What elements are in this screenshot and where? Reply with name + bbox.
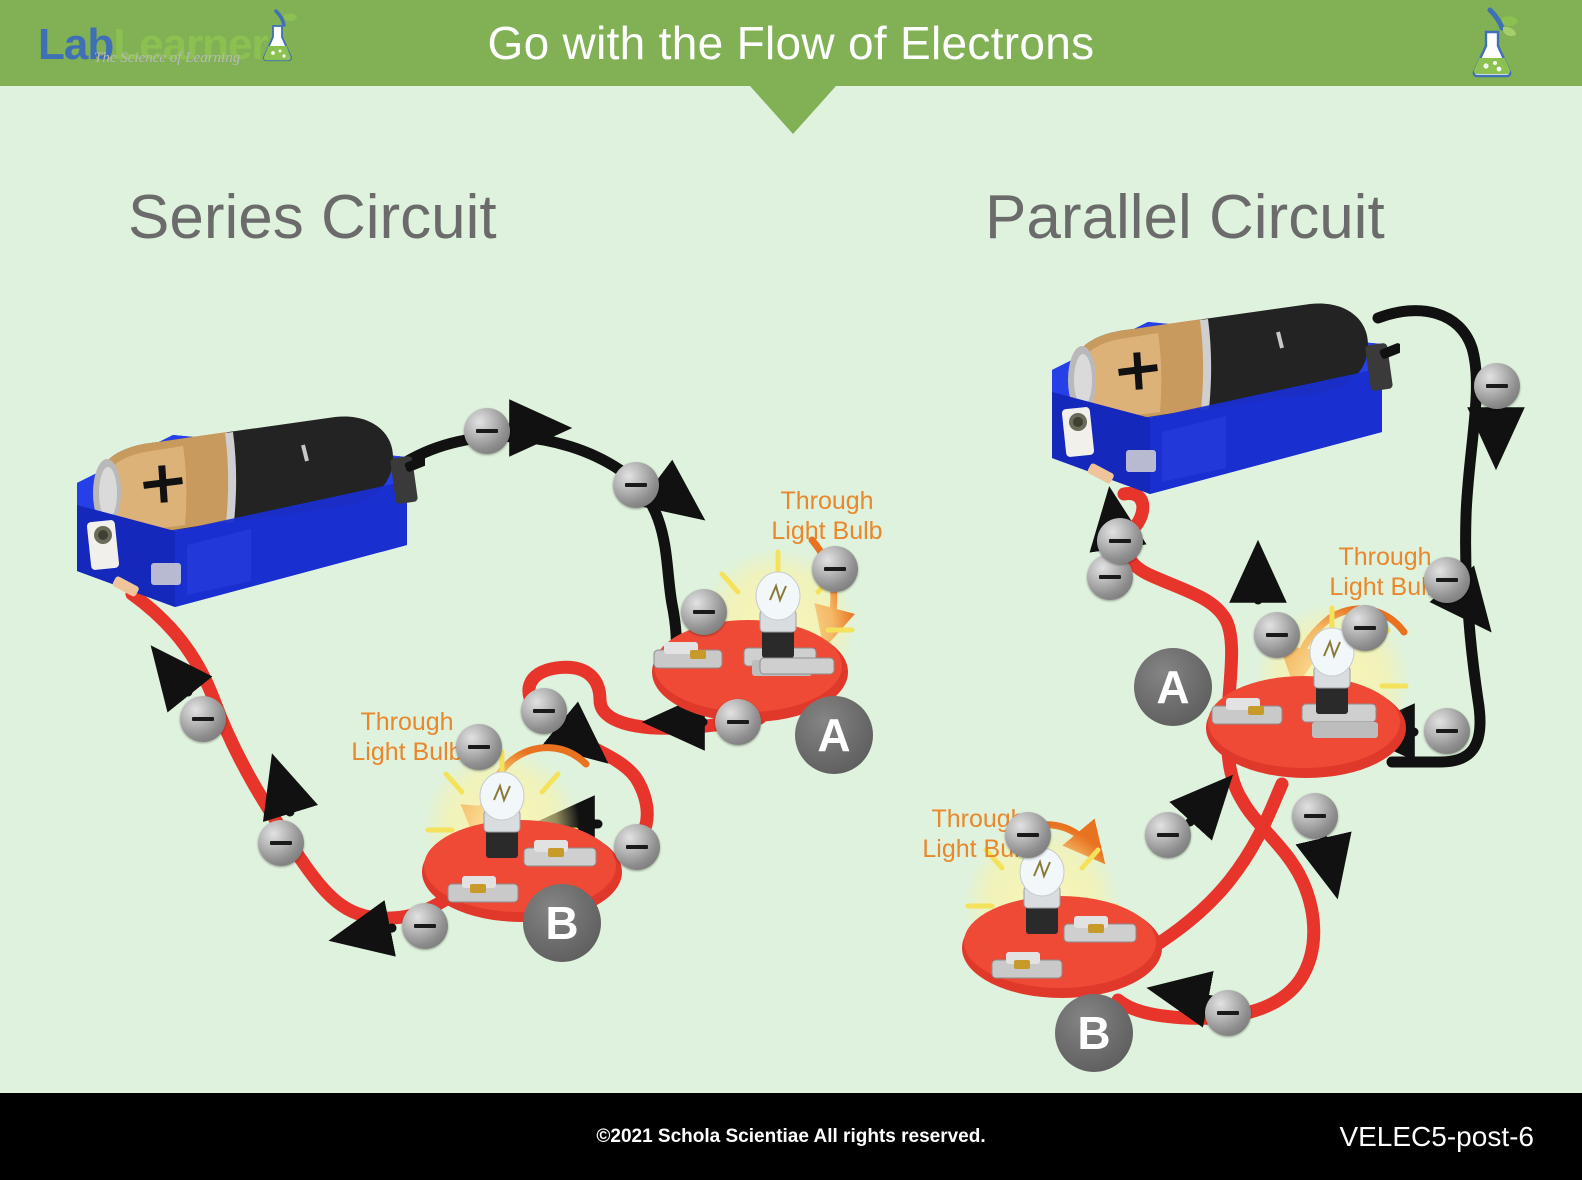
battery-holder-parallel xyxy=(1030,282,1400,522)
electron-marker xyxy=(681,589,727,635)
logo-tagline: The Science of Learning xyxy=(94,50,240,67)
electron-marker xyxy=(1292,793,1338,839)
electron-marker xyxy=(1424,708,1470,754)
node-label-parallel-b: B xyxy=(1055,994,1133,1072)
electron-marker xyxy=(456,724,502,770)
bulb-unit-series-b xyxy=(422,748,622,922)
parallel-positive-wire-b-return xyxy=(1128,784,1282,962)
battery-holder-series xyxy=(55,395,425,635)
section-title-series: Series Circuit xyxy=(128,182,497,253)
node-label-parallel-a: A xyxy=(1134,648,1212,726)
series-positive-wire-b-to-a xyxy=(529,667,760,846)
node-label-series-a: A xyxy=(795,696,873,774)
electron-marker xyxy=(1474,363,1520,409)
electron-marker xyxy=(1342,605,1388,651)
poster-canvas: Go with the Flow of Electrons Series Cir… xyxy=(0,0,1582,1180)
flask-icon xyxy=(1464,6,1520,80)
document-code: VELEC5-post-6 xyxy=(1339,1093,1534,1180)
electron-marker xyxy=(258,820,304,866)
section-title-parallel: Parallel Circuit xyxy=(985,182,1385,253)
electron-marker xyxy=(614,824,660,870)
electron-marker xyxy=(180,696,226,742)
electron-marker xyxy=(812,546,858,592)
battery-terminal-negative xyxy=(87,520,120,571)
electron-marker xyxy=(402,903,448,949)
caption-series-bulb-a: Through Light Bulb xyxy=(742,487,912,546)
electron-marker xyxy=(1254,612,1300,658)
electron-marker xyxy=(1424,557,1470,603)
electron-marker xyxy=(464,408,510,454)
battery-terminal-negative xyxy=(1062,407,1095,458)
header-notch xyxy=(750,86,836,134)
logo-flask-icon xyxy=(258,6,298,64)
node-label-series-b: B xyxy=(523,884,601,962)
electron-marker xyxy=(521,688,567,734)
electron-marker xyxy=(1005,812,1051,858)
electron-marker xyxy=(1097,518,1143,564)
electron-marker xyxy=(1205,990,1251,1036)
electron-marker xyxy=(1145,812,1191,858)
electron-marker xyxy=(715,699,761,745)
electron-marker xyxy=(613,462,659,508)
